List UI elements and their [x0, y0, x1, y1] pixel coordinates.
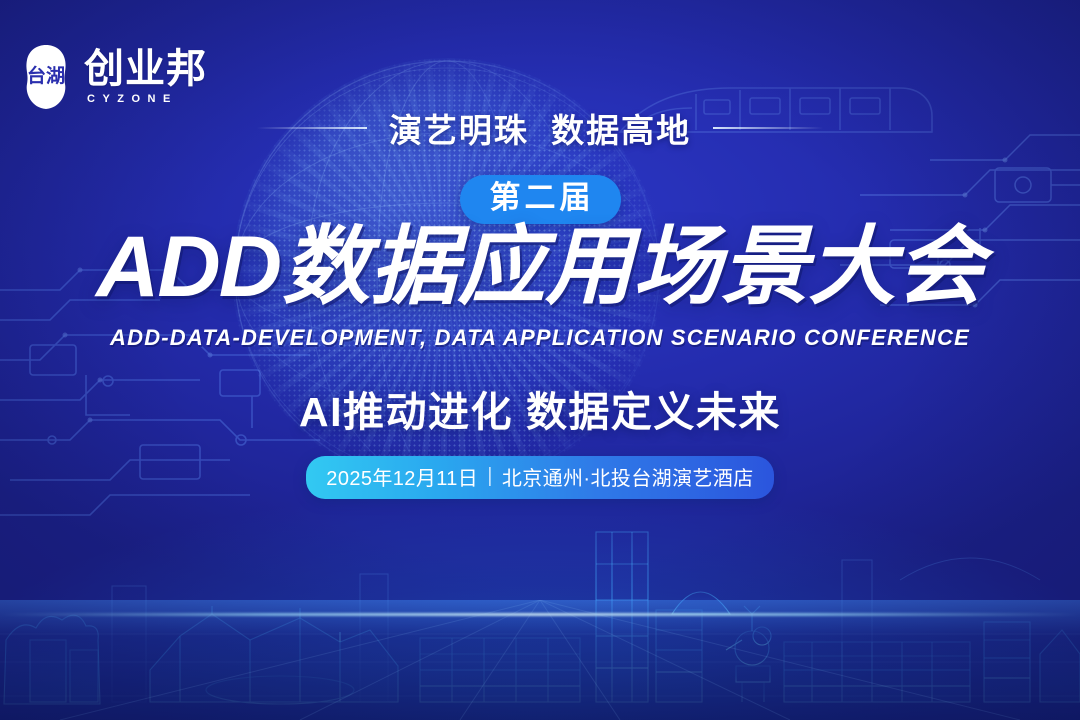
brand-name-cn: 创业邦: [84, 49, 207, 89]
title-chinese: 数据应用场景大会: [282, 219, 984, 315]
brand-logo[interactable]: 台湖 创业邦 CYZONE: [22, 44, 207, 110]
english-subtitle: ADD-DATA-DEVELOPMENT, DATA APPLICATION S…: [0, 325, 1080, 351]
edition-badge-row: 第二届: [0, 175, 1080, 224]
tagline: AI推动进化 数据定义未来: [0, 378, 1080, 438]
kicker-row: 演艺明珠 数据高地: [0, 104, 1080, 152]
kicker-rule-left: [257, 127, 367, 129]
title-latin: ADD: [96, 219, 280, 315]
taihu-seal-icon: 台湖: [22, 44, 70, 110]
event-meta-pill: 2025年12月11日 | 北京通州·北投台湖演艺酒店: [306, 456, 773, 499]
page-title: ADD数据应用场景大会: [0, 224, 1080, 310]
event-date: 2025年12月11日: [326, 462, 478, 491]
meta-separator: |: [487, 465, 493, 488]
poster-canvas: 台湖 创业邦 CYZONE 演艺明珠 数据高地 第二届 ADD数据应用场景大会 …: [0, 0, 1080, 720]
brand-text: 创业邦 CYZONE: [84, 49, 207, 105]
seal-label: 台湖: [22, 44, 70, 110]
kicker-rule-right: [713, 127, 823, 129]
event-meta-row: 2025年12月11日 | 北京通州·北投台湖演艺酒店: [0, 456, 1080, 499]
kicker-text: 演艺明珠 数据高地: [389, 104, 691, 152]
edition-badge: 第二届: [460, 175, 621, 224]
event-venue: 北京通州·北投台湖演艺酒店: [502, 462, 754, 491]
